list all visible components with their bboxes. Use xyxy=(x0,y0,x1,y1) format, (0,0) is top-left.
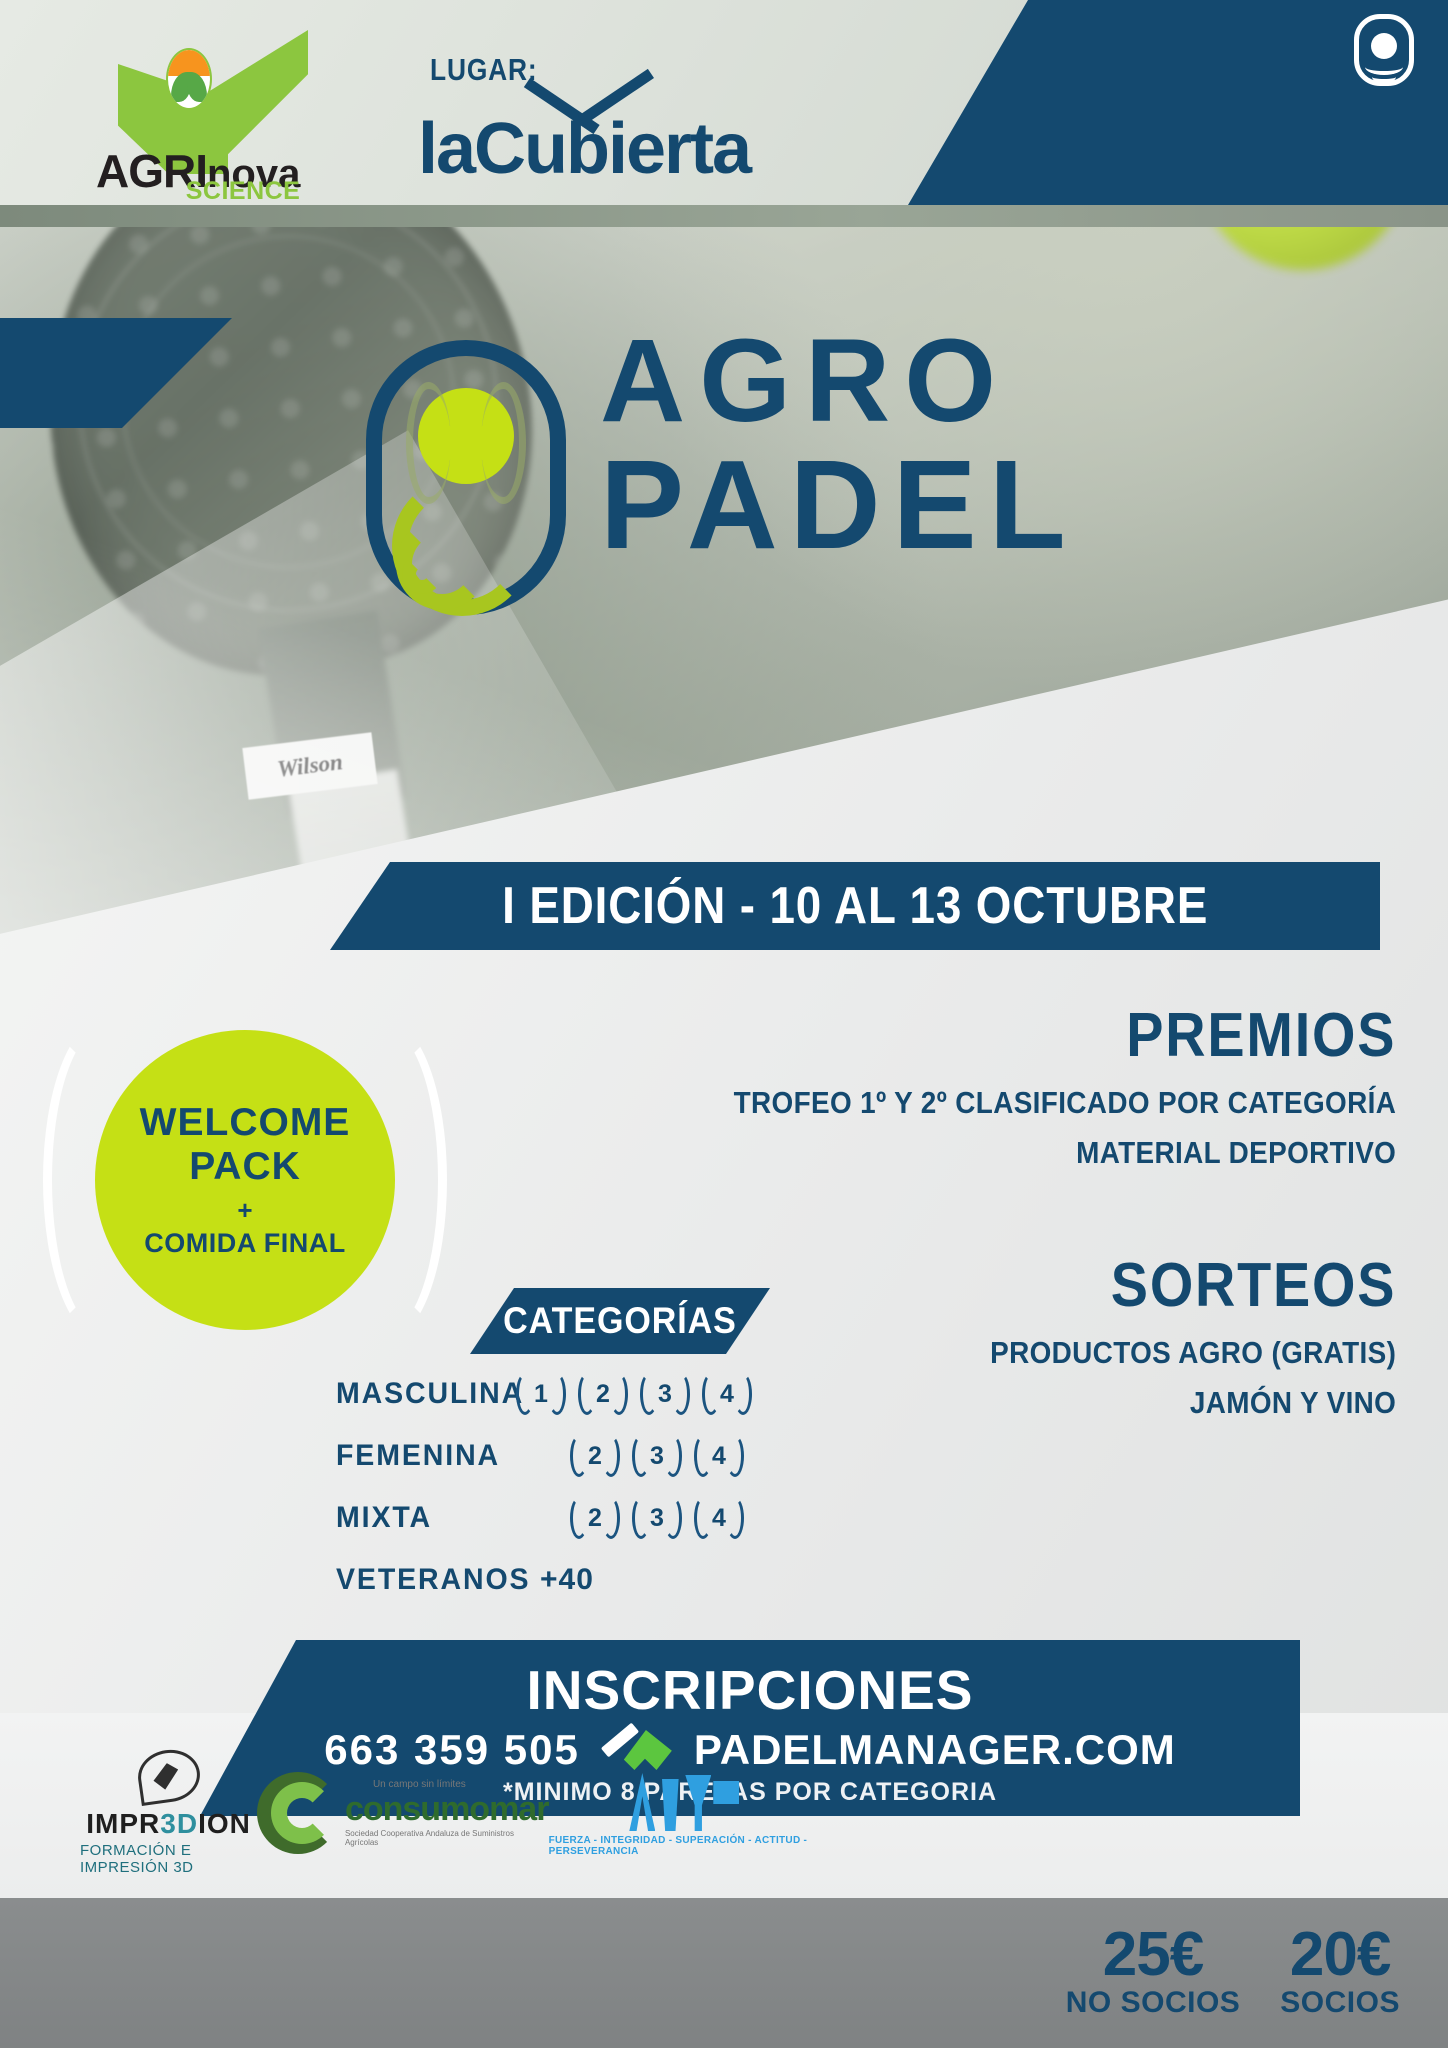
agrinova-seed-icon xyxy=(166,48,212,110)
sorteos-line-2: JAMÓN Y VINO xyxy=(990,1385,1396,1421)
premios-line-1: TROFEO 1º Y 2º CLASIFICADO POR CATEGORÍA xyxy=(733,1085,1396,1121)
impr3dion-icon xyxy=(134,1746,203,1806)
table-row: VETERANOS +40 xyxy=(336,1556,766,1604)
categoria-name: MASCULINA xyxy=(336,1377,505,1411)
laurel-wreath-icon: 4 xyxy=(692,1433,746,1479)
laurel-wreath-icon: 4 xyxy=(692,1495,746,1541)
categoria-note: +40 xyxy=(540,1563,594,1597)
laurel-wreath-icon: 1 xyxy=(514,1371,568,1417)
categorias-list: MASCULINA 1 2 3 4 FEMENINA 2 3 4 MIXTA 2… xyxy=(336,1370,766,1618)
event-title: AGRO PADEL xyxy=(600,328,1078,562)
premios-line-2: MATERIAL DEPORTIVO xyxy=(733,1135,1396,1171)
consumomar-c-icon xyxy=(257,1772,339,1854)
categoria-name: FEMENINA xyxy=(336,1439,505,1473)
level-wreaths: 1 2 3 4 xyxy=(514,1371,754,1417)
categoria-name: VETERANOS xyxy=(336,1563,505,1597)
categoria-name: MIXTA xyxy=(336,1501,505,1535)
price-label: SOCIOS xyxy=(1280,1986,1400,2020)
title-line-2: PADEL xyxy=(600,448,1078,561)
laurel-wreath-icon: 3 xyxy=(630,1495,684,1541)
welcome-pack-line-2: PACK xyxy=(189,1145,301,1189)
welcome-pack-plus: + xyxy=(237,1195,252,1226)
premios-section: PREMIOS TROFEO 1º Y 2º CLASIFICADO POR C… xyxy=(660,1000,1396,1171)
padel-ball-badge-icon xyxy=(1354,14,1414,86)
sponsor-fisap: FUERZA - INTEGRIDAD - SUPERACIÓN - ACTIT… xyxy=(549,1769,820,1857)
tennis-ball-icon xyxy=(418,388,514,484)
price-member: 20€ SOCIOS xyxy=(1280,1919,1400,2020)
level-wreaths: 2 3 4 xyxy=(568,1495,746,1541)
date-banner: I EDICIÓN - 10 AL 13 OCTUBRE xyxy=(330,862,1380,950)
venue-label: LUGAR: xyxy=(430,52,538,88)
price-label: NO SOCIOS xyxy=(1066,1986,1241,2020)
welcome-pack-line-1: WELCOME xyxy=(140,1101,351,1145)
price-amount: 20€ xyxy=(1280,1919,1400,1990)
level-wreaths: 2 3 4 xyxy=(568,1433,746,1479)
agropadel-ball-wifi-logo xyxy=(366,340,566,615)
laurel-wreath-icon: 3 xyxy=(638,1371,692,1417)
sorteos-section: SORTEOS PRODUCTOS AGRO (GRATIS) JAMÓN Y … xyxy=(945,1250,1396,1421)
laurel-wreath-icon: 2 xyxy=(576,1371,630,1417)
sorteos-heading: SORTEOS xyxy=(990,1250,1396,1321)
fisap-icon xyxy=(629,1769,739,1831)
title-line-1: AGRO xyxy=(600,328,1078,434)
poster-header: AGRInova SCIENCE LUGAR: laCubierta xyxy=(0,0,1448,205)
categorias-banner: CATEGORÍAS xyxy=(470,1288,770,1354)
table-row: FEMENINA 2 3 4 xyxy=(336,1432,766,1480)
price-non-member: 25€ NO SOCIOS xyxy=(1066,1919,1241,2020)
laurel-wreath-icon: 3 xyxy=(630,1433,684,1479)
sponsor-impr3dion: IMPR3DION FORMACIÓN E IMPRESIÓN 3D xyxy=(80,1750,257,1876)
roof-icon xyxy=(536,78,660,130)
laurel-wreath-icon: 2 xyxy=(568,1433,622,1479)
wifi-arcs-icon xyxy=(398,490,538,580)
table-row: MIXTA 2 3 4 xyxy=(336,1494,766,1542)
welcome-pack-line-3: COMIDA FINAL xyxy=(144,1228,345,1259)
agrinova-name-sub: SCIENCE xyxy=(186,177,301,206)
agrinova-science-logo: AGRInova SCIENCE xyxy=(88,26,358,186)
sponsor-tagline: Un campo sin límites xyxy=(373,1779,549,1790)
price-section: 25€ NO SOCIOS 20€ SOCIOS xyxy=(1066,1919,1400,2020)
sponsor-name: consumomar xyxy=(345,1790,549,1829)
sponsor-tagline: FUERZA - INTEGRIDAD - SUPERACIÓN - ACTIT… xyxy=(549,1835,820,1857)
price-amount: 25€ xyxy=(1066,1919,1241,1990)
sponsor-tagline: FORMACIÓN E IMPRESIÓN 3D xyxy=(80,1842,257,1876)
date-banner-text: I EDICIÓN - 10 AL 13 OCTUBRE xyxy=(502,876,1208,936)
sponsor-name: IMPR3DION xyxy=(86,1808,251,1840)
agropadel-poster: Wilson AGRInova SCIENCE LUGAR: laCubiert… xyxy=(0,0,1448,2048)
sorteos-line-1: PRODUCTOS AGRO (GRATIS) xyxy=(990,1335,1396,1371)
welcome-pack-ball: WELCOME PACK + COMIDA FINAL xyxy=(95,1030,395,1330)
categorias-heading: CATEGORÍAS xyxy=(503,1300,737,1342)
sponsor-subtitle: Sociedad Cooperativa Andaluza de Suminis… xyxy=(345,1829,549,1847)
header-divider xyxy=(0,205,1448,227)
inscripciones-heading: INSCRIPCIONES xyxy=(200,1658,1300,1722)
laurel-wreath-icon: 4 xyxy=(700,1371,754,1417)
premios-heading: PREMIOS xyxy=(733,1000,1396,1071)
sponsor-logos: IMPR3DION FORMACIÓN E IMPRESIÓN 3D Un ca… xyxy=(80,1743,820,1883)
sponsor-consumomar: Un campo sin límites consumomar Sociedad… xyxy=(257,1772,549,1854)
table-row: MASCULINA 1 2 3 4 xyxy=(336,1370,766,1418)
laurel-wreath-icon: 2 xyxy=(568,1495,622,1541)
